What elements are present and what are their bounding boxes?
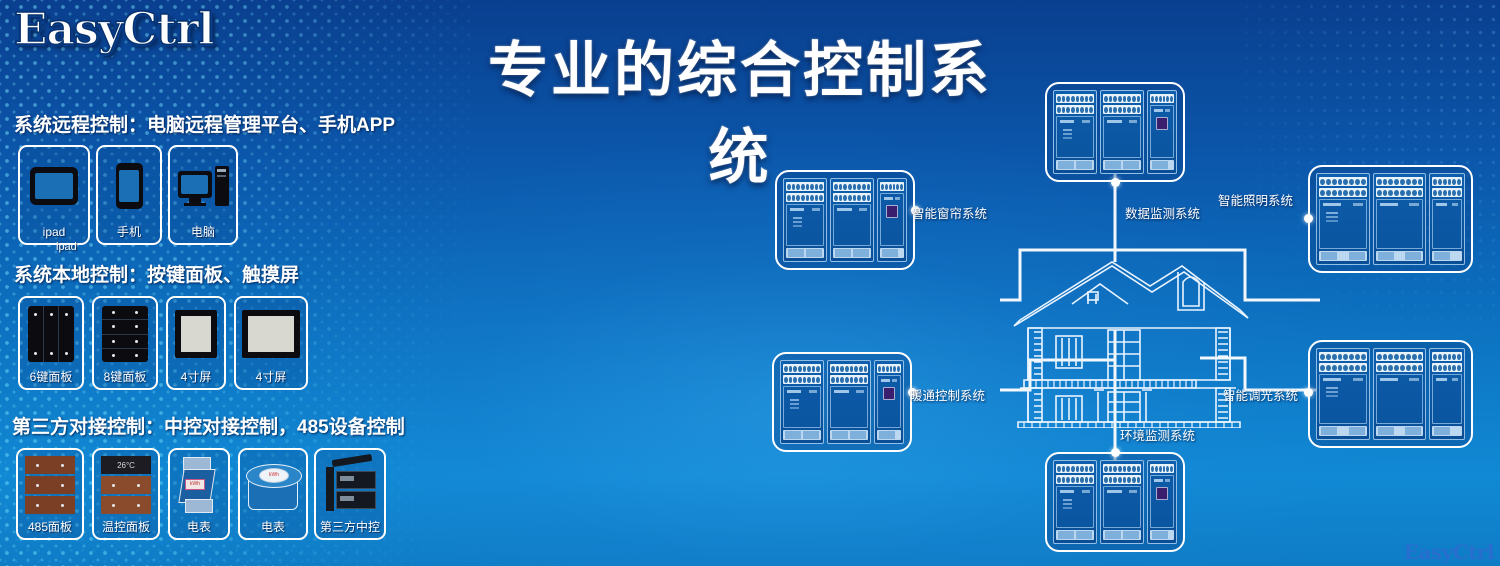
desktop-computer-icon <box>170 147 236 225</box>
module-footer <box>1150 530 1174 540</box>
module-body <box>1150 475 1174 528</box>
device-card-meter-din[interactable]: kWh 电表 <box>168 448 230 540</box>
tablet-icon <box>20 147 88 225</box>
din-module <box>830 178 874 262</box>
module-footer <box>1376 426 1424 436</box>
module-footer <box>1056 530 1094 540</box>
terminal-block <box>1432 363 1462 372</box>
din-module <box>1100 460 1144 544</box>
brand-logo: EasyCtrl <box>14 4 214 55</box>
third-party-controller-icon <box>316 450 384 520</box>
terminal-block <box>1056 475 1094 484</box>
energy-meter-din-icon: kWh <box>170 450 228 520</box>
device-card-meter-round[interactable]: kWh 电表 <box>238 448 308 540</box>
terminal-block <box>1376 363 1424 372</box>
module-body <box>833 204 871 246</box>
smartphone-icon <box>98 147 160 225</box>
din-module-display <box>1429 348 1465 440</box>
terminal-block <box>1376 177 1424 186</box>
module-footer <box>1432 251 1462 261</box>
module-body <box>877 375 901 428</box>
module-footer <box>830 430 868 440</box>
module-body <box>1432 199 1462 249</box>
terminal-block <box>1150 94 1174 103</box>
module-footer <box>833 248 871 258</box>
din-module <box>827 360 871 444</box>
device-card-485-panel[interactable]: 485面板 <box>16 448 84 540</box>
thermostat-display: 26°C <box>101 456 151 474</box>
diagram-label-data-monitoring: 数据监测系统 <box>1125 203 1200 222</box>
module-card-smart-lighting[interactable] <box>1308 165 1473 273</box>
connector-node <box>1304 214 1313 223</box>
module-card-smart-dimming[interactable] <box>1308 340 1473 448</box>
connector-node <box>1304 388 1313 397</box>
system-topology-diagram: 数据监测系统 <box>700 0 1500 566</box>
terminal-block <box>880 182 904 191</box>
section-heading-local-control: 系统本地控制：按键面板、触摸屏 <box>14 260 299 287</box>
connector-node <box>1111 448 1120 457</box>
module-footer <box>1103 530 1141 540</box>
din-module-display <box>1147 460 1177 544</box>
module-body <box>880 193 904 246</box>
terminal-block <box>786 182 824 191</box>
corner-watermark: EasyCtrl <box>1404 540 1494 564</box>
diagram-label-smart-lighting: 智能照明系统 <box>1218 190 1293 209</box>
ipad-note: ipad <box>56 241 77 253</box>
terminal-block <box>833 182 871 191</box>
device-card-4inch-screen-b[interactable]: 4寸屏 <box>234 296 308 390</box>
energy-meter-round-icon: kWh <box>240 450 306 520</box>
din-module <box>1316 173 1370 265</box>
din-module <box>1100 90 1144 174</box>
device-card-label: 第三方中控 <box>320 520 380 534</box>
module-body <box>1319 199 1367 249</box>
device-card-4inch-screen-a[interactable]: 4寸屏 <box>166 296 226 390</box>
module-footer <box>1103 160 1141 170</box>
device-card-phone[interactable]: 手机 <box>96 145 162 245</box>
terminal-block <box>1103 105 1141 114</box>
module-footer <box>877 430 901 440</box>
diagram-label-hvac: 暖通控制系统 <box>910 385 985 404</box>
terminal-block <box>783 364 821 373</box>
terminal-block <box>830 364 868 373</box>
module-body <box>1150 105 1174 158</box>
device-card-6key-panel[interactable]: 6键面板 <box>18 296 84 390</box>
din-module-display <box>1147 90 1177 174</box>
module-footer <box>1376 251 1424 261</box>
terminal-block <box>1319 188 1367 197</box>
module-footer <box>880 248 904 258</box>
module-footer <box>783 430 821 440</box>
din-module <box>1053 460 1097 544</box>
rs485-panel-icon <box>18 450 82 520</box>
device-card-label: 4寸屏 <box>181 370 212 384</box>
module-card-environment-monitoring[interactable] <box>1045 452 1185 552</box>
connector-node <box>1111 178 1120 187</box>
terminal-block <box>1150 464 1174 473</box>
device-card-label: 8键面板 <box>104 370 147 384</box>
terminal-block <box>1432 177 1462 186</box>
device-card-label: 电脑 <box>191 225 215 239</box>
section-heading-remote-control: 系统远程控制：电脑远程管理平台、手机APP <box>14 110 395 137</box>
din-module <box>783 178 827 262</box>
device-card-label: 温控面板 <box>102 520 150 534</box>
din-module <box>1053 90 1097 174</box>
device-card-ipad[interactable]: ipad <box>18 145 90 245</box>
four-inch-screen-wide-icon <box>236 298 306 370</box>
terminal-block <box>1103 94 1141 103</box>
terminal-block <box>1319 352 1367 361</box>
module-footer <box>1432 426 1462 436</box>
device-card-label: 485面板 <box>28 520 72 534</box>
eight-key-panel-icon <box>94 298 156 370</box>
section-heading-third-party: 第三方对接控制：中控对接控制，485设备控制 <box>12 412 405 439</box>
terminal-block <box>830 375 868 384</box>
house-illustration <box>1000 248 1260 428</box>
din-module <box>1316 348 1370 440</box>
module-body <box>1103 486 1141 528</box>
din-module-display <box>874 360 904 444</box>
module-footer <box>1056 160 1094 170</box>
six-key-panel-icon <box>20 298 82 370</box>
din-module <box>780 360 824 444</box>
module-footer <box>786 248 824 258</box>
module-card-data-monitoring[interactable] <box>1045 82 1185 182</box>
module-footer <box>1319 426 1367 436</box>
module-body <box>786 204 824 246</box>
module-card-smart-curtain[interactable] <box>775 170 915 270</box>
module-body <box>830 386 868 428</box>
din-module <box>1373 173 1427 265</box>
device-card-label: 4寸屏 <box>256 370 287 384</box>
module-footer <box>1150 160 1174 170</box>
terminal-block <box>1103 475 1141 484</box>
terminal-block <box>783 375 821 384</box>
device-card-label: 手机 <box>117 225 141 239</box>
terminal-block <box>1056 94 1094 103</box>
module-body <box>1376 199 1424 249</box>
terminal-block <box>1432 352 1462 361</box>
din-module <box>1373 348 1427 440</box>
four-inch-screen-icon <box>168 298 224 370</box>
device-card-third-party-controller[interactable]: 第三方中控 <box>314 448 386 540</box>
terminal-block <box>1056 105 1094 114</box>
device-card-label: 电表 <box>187 520 211 534</box>
module-footer <box>1319 251 1367 261</box>
module-body <box>1103 116 1141 158</box>
device-card-8key-panel[interactable]: 8键面板 <box>92 296 158 390</box>
device-card-thermostat-panel[interactable]: 26°C 温控面板 <box>92 448 160 540</box>
diagram-label-smart-curtain: 智能窗帘系统 <box>912 203 987 222</box>
terminal-block <box>877 364 901 373</box>
module-body <box>1319 374 1367 424</box>
module-body <box>1056 486 1094 528</box>
poster-canvas: EasyCtrl 专业的综合控制系统 系统远程控制：电脑远程管理平台、手机APP… <box>0 0 1500 566</box>
terminal-block <box>1376 352 1424 361</box>
terminal-block <box>1376 188 1424 197</box>
terminal-block <box>1056 464 1094 473</box>
din-module-display <box>1429 173 1465 265</box>
terminal-block <box>786 193 824 202</box>
terminal-block <box>1319 363 1367 372</box>
thermostat-panel-icon: 26°C <box>94 450 158 520</box>
device-card-label: 6键面板 <box>30 370 73 384</box>
terminal-block <box>1432 188 1462 197</box>
terminal-block <box>1103 464 1141 473</box>
terminal-block <box>1319 177 1367 186</box>
module-body <box>1376 374 1424 424</box>
module-card-hvac[interactable] <box>772 352 912 452</box>
device-card-label: 电表 <box>261 520 285 534</box>
module-body <box>1432 374 1462 424</box>
device-card-label: ipad <box>43 225 66 239</box>
device-card-computer[interactable]: 电脑 <box>168 145 238 245</box>
din-module-display <box>877 178 907 262</box>
module-body <box>783 386 821 428</box>
terminal-block <box>833 193 871 202</box>
module-body <box>1056 116 1094 158</box>
